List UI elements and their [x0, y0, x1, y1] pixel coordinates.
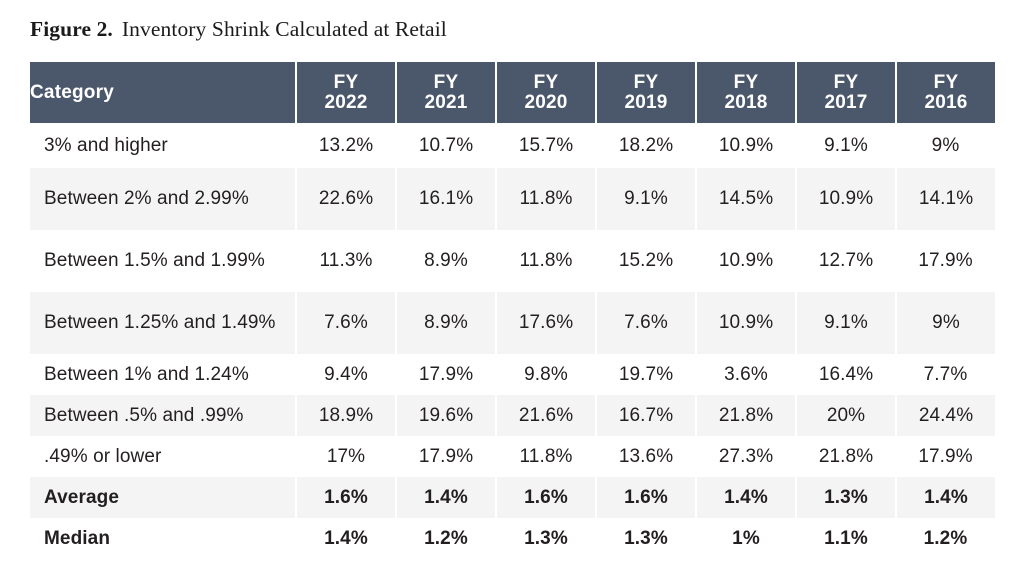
- cell-fy2017: 9.1%: [796, 123, 896, 168]
- column-header-category: Category: [30, 62, 296, 123]
- cell-fy2017: 10.9%: [796, 168, 896, 230]
- cell-fy2021: 10.7%: [396, 123, 496, 168]
- row-category: Between 1.5% and 1.99%: [30, 230, 296, 292]
- column-header-fy2022: FY 2022: [296, 62, 396, 123]
- cell-fy2016: 9%: [896, 292, 995, 354]
- cell-fy2017: 1.1%: [796, 518, 896, 559]
- table-row-average: Average 1.6% 1.4% 1.6% 1.6% 1.4% 1.3% 1.…: [30, 477, 995, 518]
- table-body: 3% and higher 13.2% 10.7% 15.7% 18.2% 10…: [30, 123, 995, 559]
- cell-fy2020: 1.3%: [496, 518, 596, 559]
- cell-fy2016: 14.1%: [896, 168, 995, 230]
- column-header-fy2016: FY 2016: [896, 62, 995, 123]
- cell-fy2020: 1.6%: [496, 477, 596, 518]
- cell-fy2019: 9.1%: [596, 168, 696, 230]
- cell-fy2019: 19.7%: [596, 354, 696, 395]
- column-header-fy2018-line2: 2018: [697, 93, 795, 113]
- cell-fy2018: 14.5%: [696, 168, 796, 230]
- cell-fy2017: 9.1%: [796, 292, 896, 354]
- table-row: 3% and higher 13.2% 10.7% 15.7% 18.2% 10…: [30, 123, 995, 168]
- row-category: Between 1.25% and 1.49%: [30, 292, 296, 354]
- table-header-row: Category FY 2022 FY 2021 FY 2020 FY: [30, 62, 995, 123]
- column-header-fy2016-line1: FY: [897, 73, 995, 93]
- cell-fy2022: 7.6%: [296, 292, 396, 354]
- cell-fy2022: 18.9%: [296, 395, 396, 436]
- row-category: .49% or lower: [30, 436, 296, 477]
- cell-fy2022: 22.6%: [296, 168, 396, 230]
- cell-fy2018: 3.6%: [696, 354, 796, 395]
- column-header-fy2017-line2: 2017: [797, 93, 895, 113]
- column-header-fy2017: FY 2017: [796, 62, 896, 123]
- cell-fy2018: 10.9%: [696, 230, 796, 292]
- figure-title: Inventory Shrink Calculated at Retail: [122, 17, 447, 41]
- table-row: .49% or lower 17% 17.9% 11.8% 13.6% 27.3…: [30, 436, 995, 477]
- column-header-fy2021-line1: FY: [397, 73, 495, 93]
- figure-caption: Figure 2.Inventory Shrink Calculated at …: [30, 17, 447, 42]
- table-row: Between 1.25% and 1.49% 7.6% 8.9% 17.6% …: [30, 292, 995, 354]
- cell-fy2019: 16.7%: [596, 395, 696, 436]
- column-header-fy2022-line2: 2022: [297, 93, 395, 113]
- cell-fy2019: 1.6%: [596, 477, 696, 518]
- cell-fy2022: 11.3%: [296, 230, 396, 292]
- inventory-shrink-table: Category FY 2022 FY 2021 FY 2020 FY: [30, 62, 995, 559]
- cell-fy2018: 1%: [696, 518, 796, 559]
- column-header-fy2022-line1: FY: [297, 73, 395, 93]
- table-row: Between 1.5% and 1.99% 11.3% 8.9% 11.8% …: [30, 230, 995, 292]
- cell-fy2016: 17.9%: [896, 436, 995, 477]
- column-header-fy2019-line1: FY: [597, 73, 695, 93]
- cell-fy2020: 17.6%: [496, 292, 596, 354]
- cell-fy2017: 20%: [796, 395, 896, 436]
- column-header-fy2018: FY 2018: [696, 62, 796, 123]
- cell-fy2020: 21.6%: [496, 395, 596, 436]
- cell-fy2017: 16.4%: [796, 354, 896, 395]
- cell-fy2021: 19.6%: [396, 395, 496, 436]
- cell-fy2019: 13.6%: [596, 436, 696, 477]
- cell-fy2019: 15.2%: [596, 230, 696, 292]
- column-header-fy2016-line2: 2016: [897, 93, 995, 113]
- row-category: Between 1% and 1.24%: [30, 354, 296, 395]
- table-header: Category FY 2022 FY 2021 FY 2020 FY: [30, 62, 995, 123]
- cell-fy2016: 24.4%: [896, 395, 995, 436]
- cell-fy2018: 27.3%: [696, 436, 796, 477]
- row-category: Median: [30, 518, 296, 559]
- cell-fy2016: 17.9%: [896, 230, 995, 292]
- cell-fy2021: 1.4%: [396, 477, 496, 518]
- column-header-fy2021-line2: 2021: [397, 93, 495, 113]
- cell-fy2018: 10.9%: [696, 123, 796, 168]
- cell-fy2018: 21.8%: [696, 395, 796, 436]
- cell-fy2018: 10.9%: [696, 292, 796, 354]
- cell-fy2021: 17.9%: [396, 436, 496, 477]
- cell-fy2020: 11.8%: [496, 230, 596, 292]
- cell-fy2022: 17%: [296, 436, 396, 477]
- row-category: Between .5% and .99%: [30, 395, 296, 436]
- cell-fy2019: 18.2%: [596, 123, 696, 168]
- figure-page: Figure 2.Inventory Shrink Calculated at …: [0, 0, 1024, 579]
- cell-fy2022: 1.6%: [296, 477, 396, 518]
- row-category: 3% and higher: [30, 123, 296, 168]
- cell-fy2020: 15.7%: [496, 123, 596, 168]
- cell-fy2022: 1.4%: [296, 518, 396, 559]
- table-row: Between .5% and .99% 18.9% 19.6% 21.6% 1…: [30, 395, 995, 436]
- table-row: Between 2% and 2.99% 22.6% 16.1% 11.8% 9…: [30, 168, 995, 230]
- cell-fy2020: 11.8%: [496, 168, 596, 230]
- cell-fy2017: 1.3%: [796, 477, 896, 518]
- cell-fy2022: 13.2%: [296, 123, 396, 168]
- cell-fy2017: 21.8%: [796, 436, 896, 477]
- cell-fy2016: 1.4%: [896, 477, 995, 518]
- cell-fy2016: 1.2%: [896, 518, 995, 559]
- column-header-fy2020-line2: 2020: [497, 93, 595, 113]
- figure-label: Figure 2.: [30, 17, 113, 41]
- column-header-fy2020: FY 2020: [496, 62, 596, 123]
- cell-fy2016: 9%: [896, 123, 995, 168]
- cell-fy2021: 8.9%: [396, 292, 496, 354]
- cell-fy2017: 12.7%: [796, 230, 896, 292]
- table-row: Between 1% and 1.24% 9.4% 17.9% 9.8% 19.…: [30, 354, 995, 395]
- cell-fy2016: 7.7%: [896, 354, 995, 395]
- cell-fy2020: 11.8%: [496, 436, 596, 477]
- row-category: Between 2% and 2.99%: [30, 168, 296, 230]
- cell-fy2019: 7.6%: [596, 292, 696, 354]
- cell-fy2021: 16.1%: [396, 168, 496, 230]
- column-header-fy2019-line2: 2019: [597, 93, 695, 113]
- cell-fy2021: 8.9%: [396, 230, 496, 292]
- table-row-median: Median 1.4% 1.2% 1.3% 1.3% 1% 1.1% 1.2%: [30, 518, 995, 559]
- cell-fy2019: 1.3%: [596, 518, 696, 559]
- column-header-fy2020-line1: FY: [497, 73, 595, 93]
- cell-fy2021: 17.9%: [396, 354, 496, 395]
- cell-fy2018: 1.4%: [696, 477, 796, 518]
- row-category: Average: [30, 477, 296, 518]
- cell-fy2020: 9.8%: [496, 354, 596, 395]
- column-header-fy2019: FY 2019: [596, 62, 696, 123]
- column-header-fy2017-line1: FY: [797, 73, 895, 93]
- column-header-fy2018-line1: FY: [697, 73, 795, 93]
- column-header-fy2021: FY 2021: [396, 62, 496, 123]
- cell-fy2021: 1.2%: [396, 518, 496, 559]
- inventory-shrink-table-container: Category FY 2022 FY 2021 FY 2020 FY: [30, 62, 995, 559]
- cell-fy2022: 9.4%: [296, 354, 396, 395]
